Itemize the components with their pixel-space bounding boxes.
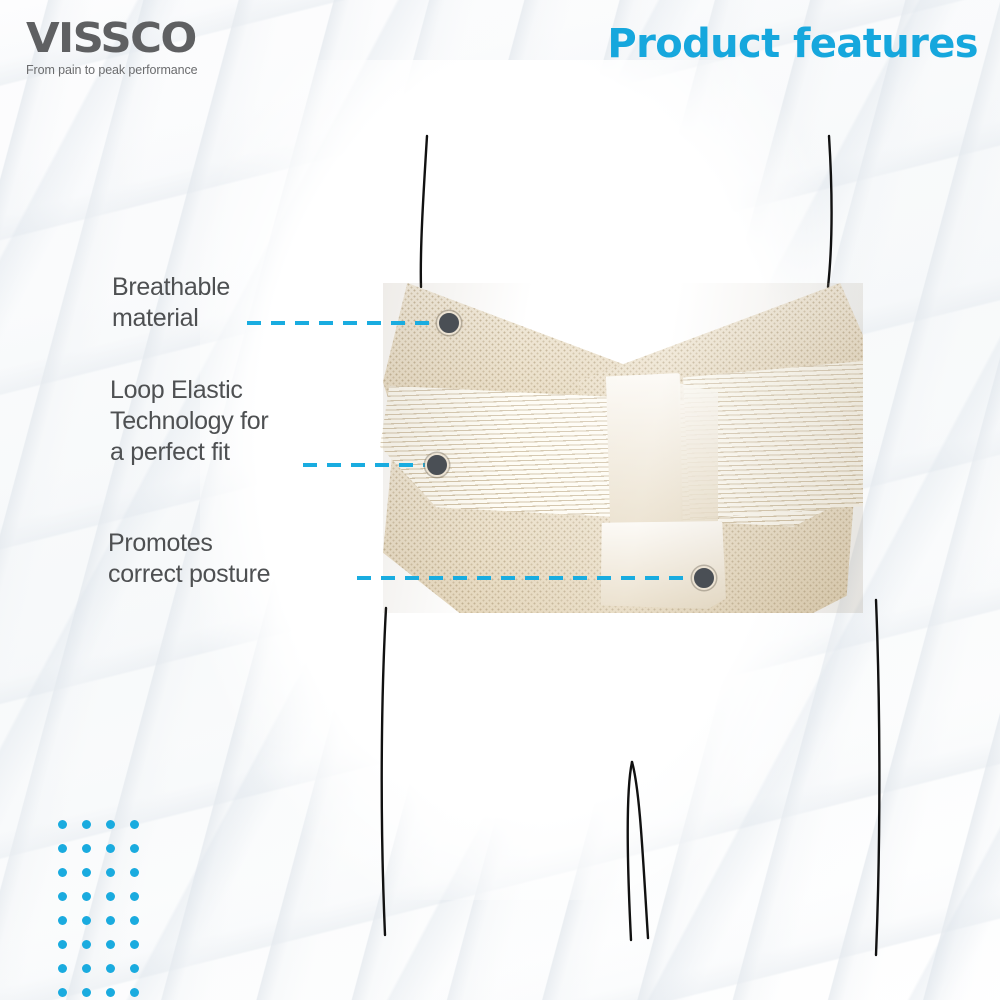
decorative-dot	[130, 820, 139, 829]
callout-line-breathable	[247, 321, 445, 325]
decorative-dot	[106, 844, 115, 853]
callout-line-loop-elastic	[303, 463, 441, 467]
decorative-dot	[106, 964, 115, 973]
belt-velcro-tab-upper	[601, 373, 683, 545]
decorative-dot	[58, 988, 67, 997]
decorative-dot	[58, 844, 67, 853]
decorative-dot	[130, 844, 139, 853]
decorative-dot	[82, 916, 91, 925]
inner-thigh-left-outline	[628, 762, 632, 940]
decorative-dot	[58, 868, 67, 877]
decorative-dot	[106, 868, 115, 877]
callout-dot-posture-icon	[692, 566, 716, 590]
feature-label-breathable-material: Breathable material	[112, 272, 230, 334]
torso-right-outline	[828, 136, 832, 287]
decorative-dot	[130, 892, 139, 901]
decorative-dot	[58, 964, 67, 973]
decorative-dot	[106, 820, 115, 829]
decorative-dot	[106, 940, 115, 949]
decorative-dot	[82, 940, 91, 949]
belt-overlap-edge	[678, 383, 718, 533]
decorative-dot	[106, 892, 115, 901]
decorative-dot	[106, 916, 115, 925]
torso-left-outline	[421, 136, 427, 287]
logo-wordmark: VISSCO	[26, 18, 270, 59]
decorative-dot	[58, 940, 67, 949]
belt-velcro-tab-lower	[598, 521, 726, 609]
inner-thigh-right-outline	[632, 762, 648, 938]
decorative-dot	[130, 964, 139, 973]
slide-canvas: VISSCO From pain to peak performance Pro…	[0, 0, 1000, 1000]
decorative-dot	[82, 988, 91, 997]
decorative-dot	[82, 964, 91, 973]
page-title: Product features	[607, 22, 978, 66]
decorative-dot	[82, 844, 91, 853]
callout-dot-breathable-icon	[437, 311, 461, 335]
decorative-dot	[106, 988, 115, 997]
decorative-dot	[58, 892, 67, 901]
decorative-dot	[130, 940, 139, 949]
feature-label-promotes-posture: Promotes correct posture	[108, 528, 270, 590]
logo-tagline: From pain to peak performance	[26, 63, 256, 77]
right-leg-outline	[876, 600, 879, 955]
decorative-dot	[58, 820, 67, 829]
decorative-dot	[58, 916, 67, 925]
decorative-dot	[130, 916, 139, 925]
brand-logo: VISSCO From pain to peak performance	[26, 18, 256, 77]
callout-dot-loop-elastic-icon	[425, 453, 449, 477]
decorative-dot	[130, 988, 139, 997]
feature-label-loop-elastic: Loop Elastic Technology for a perfect fi…	[110, 375, 268, 468]
left-leg-outline	[382, 608, 386, 935]
decorative-dot	[130, 868, 139, 877]
decorative-dot	[82, 868, 91, 877]
decorative-dot-grid	[58, 812, 154, 1000]
decorative-dot	[82, 820, 91, 829]
callout-line-posture	[357, 576, 702, 580]
decorative-dot	[82, 892, 91, 901]
